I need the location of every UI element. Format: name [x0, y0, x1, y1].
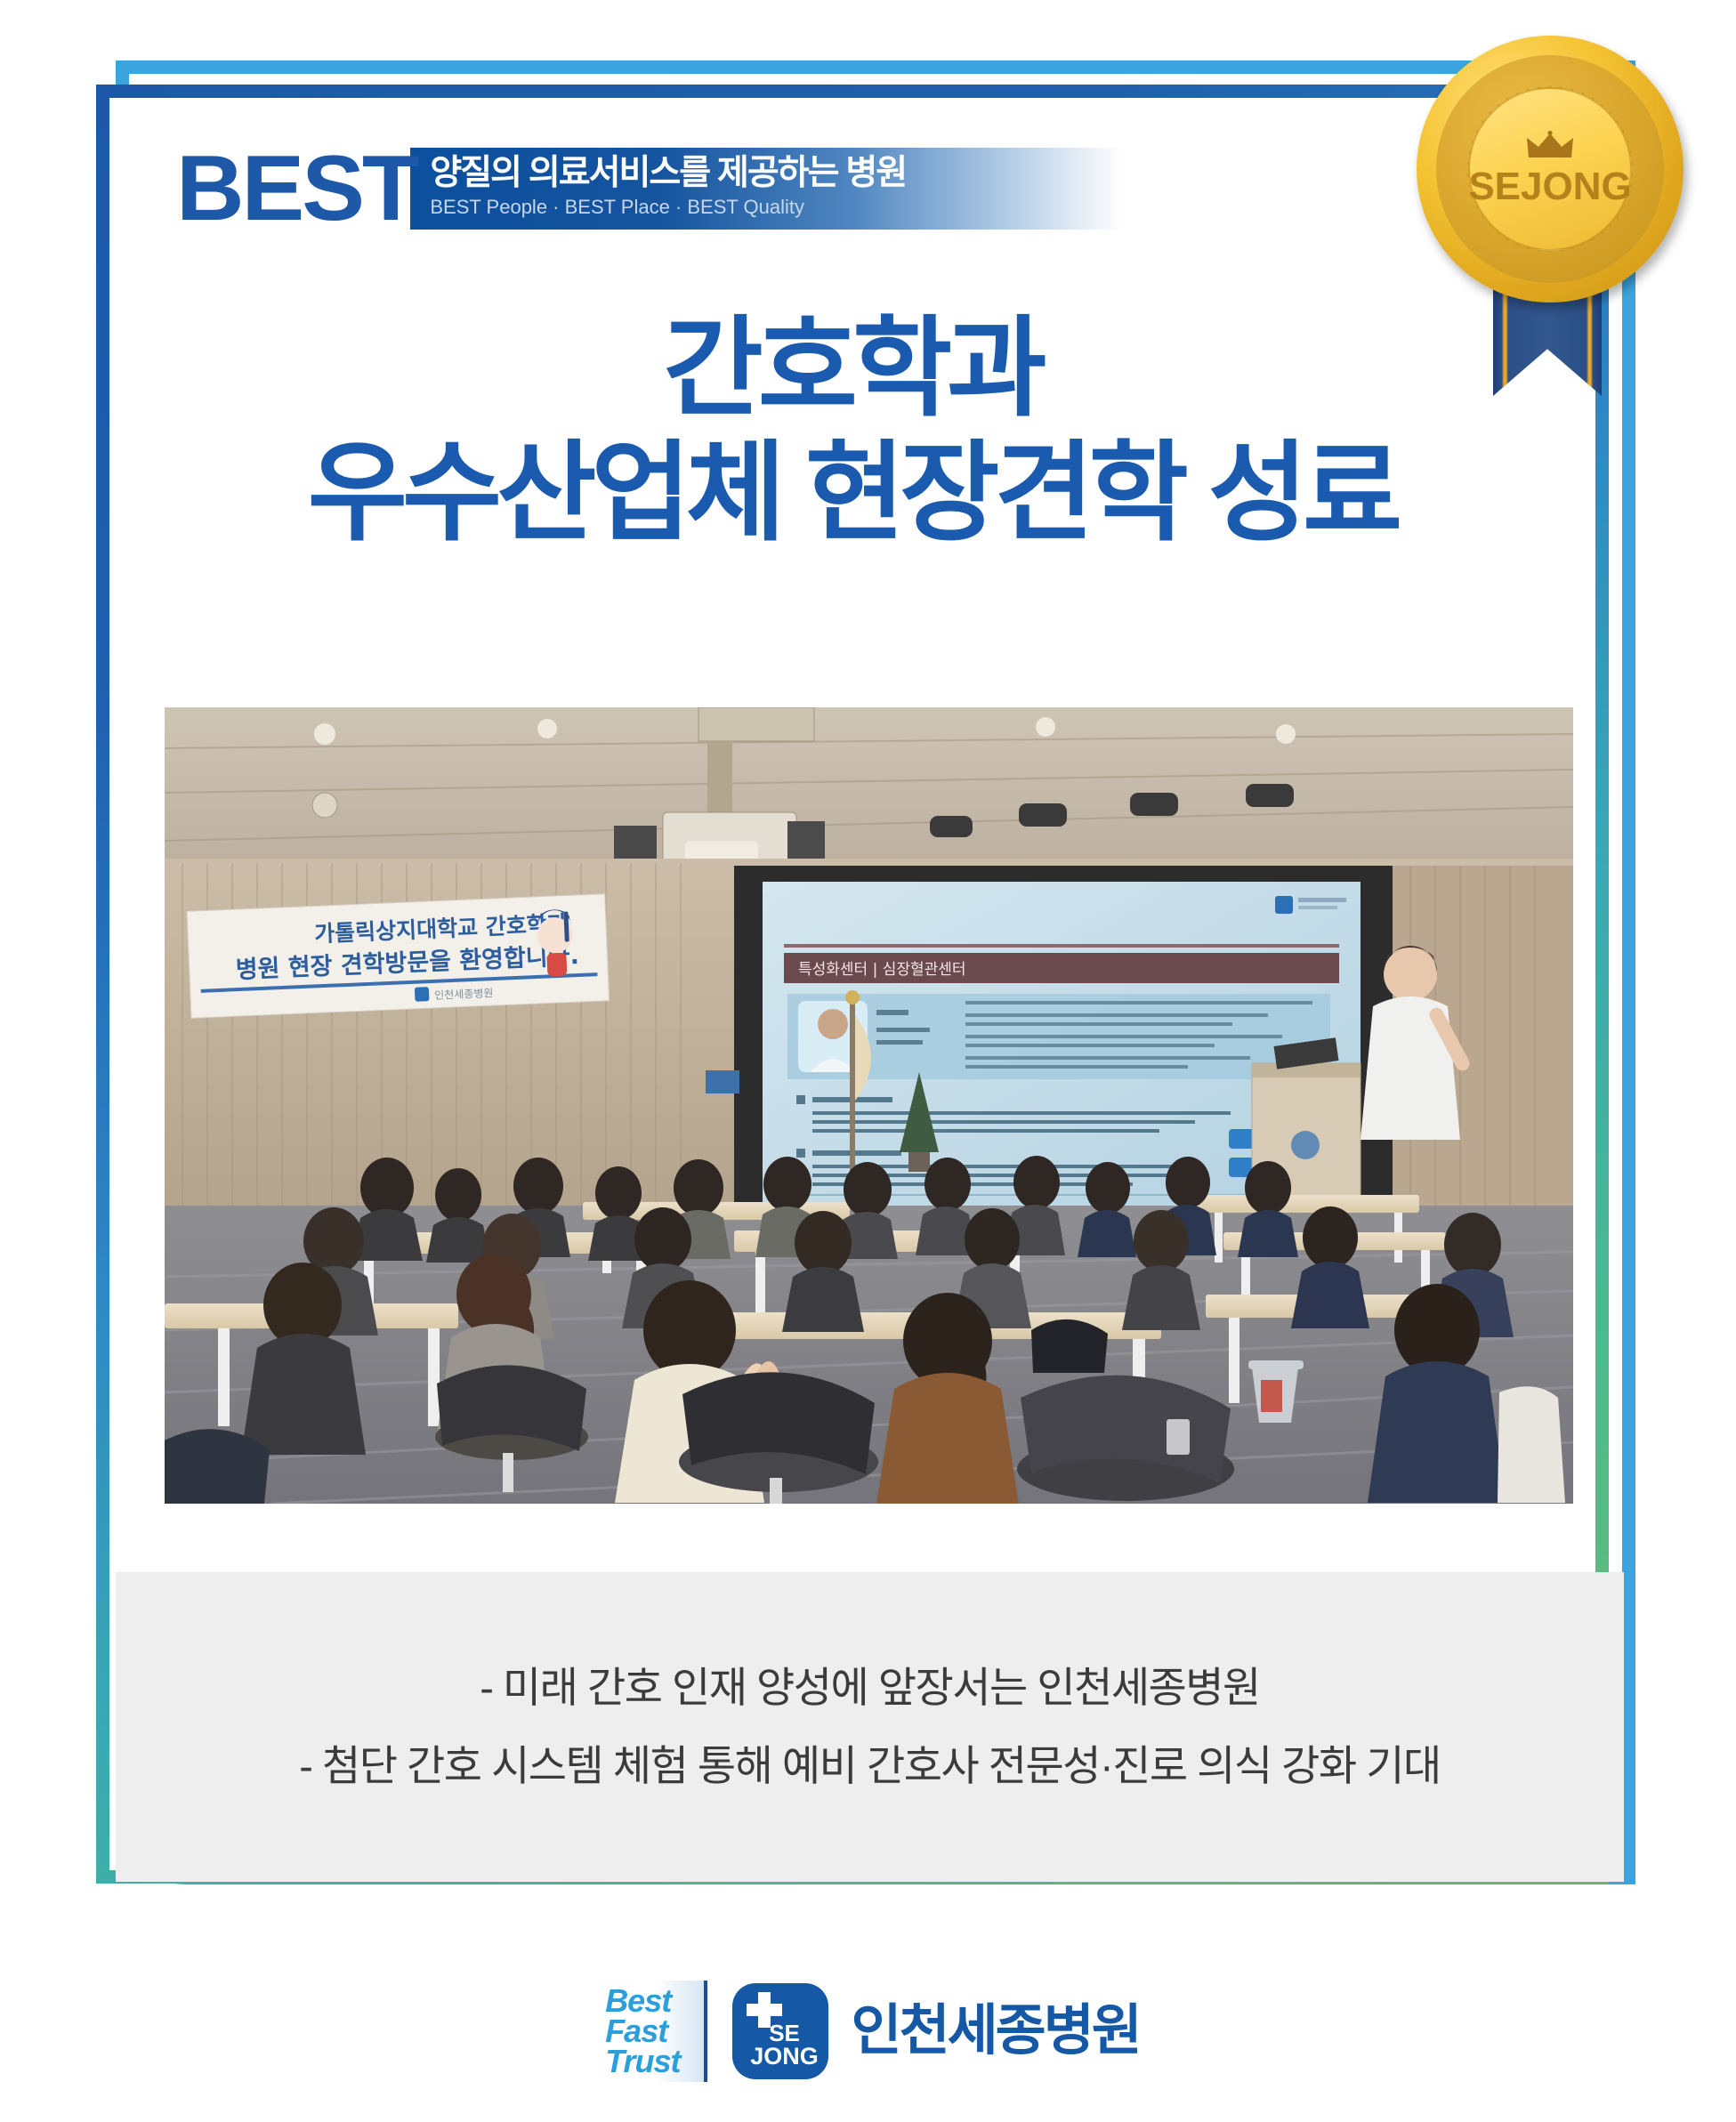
svg-text:인천세종병원: 인천세종병원 [434, 986, 494, 1002]
medal-disc: SEJONG [1417, 36, 1684, 303]
slogan-best-fast-trust: Best Fast Trust [596, 1981, 707, 2082]
caption-line-1: - 미래 간호 인재 양성에 앞장서는 인천세종병원 [480, 1662, 1260, 1714]
best-wordmark: BEST [176, 142, 419, 235]
page-title: 간호학과 우수산업체 현장견학 성료 [109, 307, 1595, 556]
slogan-line-3: Trust [605, 2046, 680, 2077]
best-tagline-bar: 양질의 의료서비스를 제공하는 병원 BEST People · BEST Pl… [410, 148, 1122, 230]
caption-panel: - 미래 간호 인재 양성에 앞장서는 인천세종병원 - 첨단 간호 시스템 체… [116, 1572, 1624, 1882]
sejong-mark-jong: JONG [732, 2044, 828, 2069]
sejong-logo-mark: SE JONG [732, 1983, 828, 2079]
medal-face: SEJONG [1468, 87, 1632, 251]
title-line-1: 간호학과 [109, 307, 1595, 430]
event-photo-illustration: 특성화센터 | 심장혈관센터 [165, 707, 1573, 1504]
tagline-sub: BEST People · BEST Place · BEST Quality [430, 194, 1122, 221]
event-photo: 특성화센터 | 심장혈관센터 [165, 707, 1573, 1504]
footer-branding: Best Fast Trust SE JONG 인천세종병원 [0, 1973, 1736, 2089]
slogan-line-2: Fast [605, 2016, 667, 2046]
svg-text:특성화센터 | 심장혈관센터: 특성화센터 | 심장혈관센터 [798, 961, 966, 979]
title-line-2: 우수산업체 현장견학 성료 [109, 430, 1595, 556]
medal-label: SEJONG [1468, 166, 1631, 207]
caption-line-2: - 첨단 간호 시스템 체험 통해 예비 간호사 전문성·진로 의식 강화 기대 [299, 1740, 1440, 1792]
hospital-name: 인천세종병원 [852, 2001, 1140, 2061]
slogan-line-1: Best [605, 1986, 671, 2016]
sejong-mark-se: SE [732, 2021, 828, 2045]
best-header: BEST 양질의 의료서비스를 제공하는 병원 BEST People · BE… [176, 141, 1122, 237]
tagline-main: 양질의 의료서비스를 제공하는 병원 [430, 155, 1122, 192]
promo-card: BEST 양질의 의료서비스를 제공하는 병원 BEST People · BE… [0, 0, 1736, 2122]
crown-icon [1525, 131, 1575, 161]
